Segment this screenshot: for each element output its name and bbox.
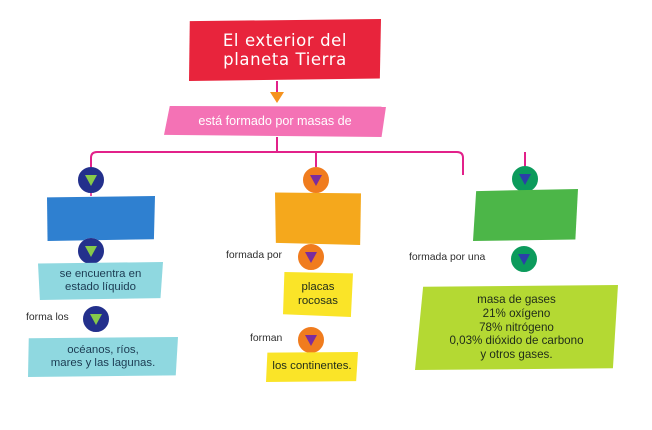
badge-ring	[83, 306, 109, 332]
badge-hydrosphere-top[interactable]	[78, 167, 104, 193]
badge-hydrosphere-bottom[interactable]	[83, 306, 109, 332]
link-label-formada-por-una: formada por una	[409, 252, 485, 263]
link-label-forma-los: forma los	[26, 312, 69, 323]
page-title: El exterior del planeta Tierra	[189, 19, 381, 81]
badge-geosphere-bottom[interactable]	[298, 327, 324, 353]
text-box-oceanos-rios: océanos, ríos, mares y las lagunas.	[28, 337, 178, 377]
badge-atmosphere-mid[interactable]	[511, 246, 537, 272]
badge-ring	[298, 327, 324, 353]
badge-ring	[298, 244, 324, 270]
badge-ring	[303, 167, 329, 193]
badge-ring	[78, 167, 104, 193]
diagram-canvas: El exterior del planeta Tierra está form…	[0, 0, 652, 430]
badge-hydrosphere-mid[interactable]	[78, 238, 104, 264]
badge-ring	[78, 238, 104, 264]
link-label-formada-por: formada por	[226, 250, 282, 261]
text-box-los-continentes: los continentes.	[266, 352, 358, 382]
blank-answer-box-hydrosphere[interactable]	[47, 196, 155, 241]
link-label-forman: forman	[250, 333, 282, 344]
text-box-estado-liquido: se encuentra en estado líquido	[38, 262, 163, 300]
badge-geosphere-top[interactable]	[303, 167, 329, 193]
badge-atmosphere-top[interactable]	[512, 166, 538, 192]
text-box-masa-de-gases: masa de gases 21% oxígeno 78% nitrógeno …	[415, 285, 618, 370]
badge-geosphere-mid[interactable]	[298, 244, 324, 270]
text-box-placas-rocosas: placas rocosas	[283, 272, 353, 317]
blank-answer-box-atmosphere[interactable]	[473, 189, 578, 241]
blank-answer-box-geosphere[interactable]	[275, 192, 361, 245]
arrow-down-icon	[270, 92, 284, 103]
connector-banner: está formado por masas de	[164, 106, 386, 137]
badge-ring	[512, 166, 538, 192]
badge-ring	[511, 246, 537, 272]
